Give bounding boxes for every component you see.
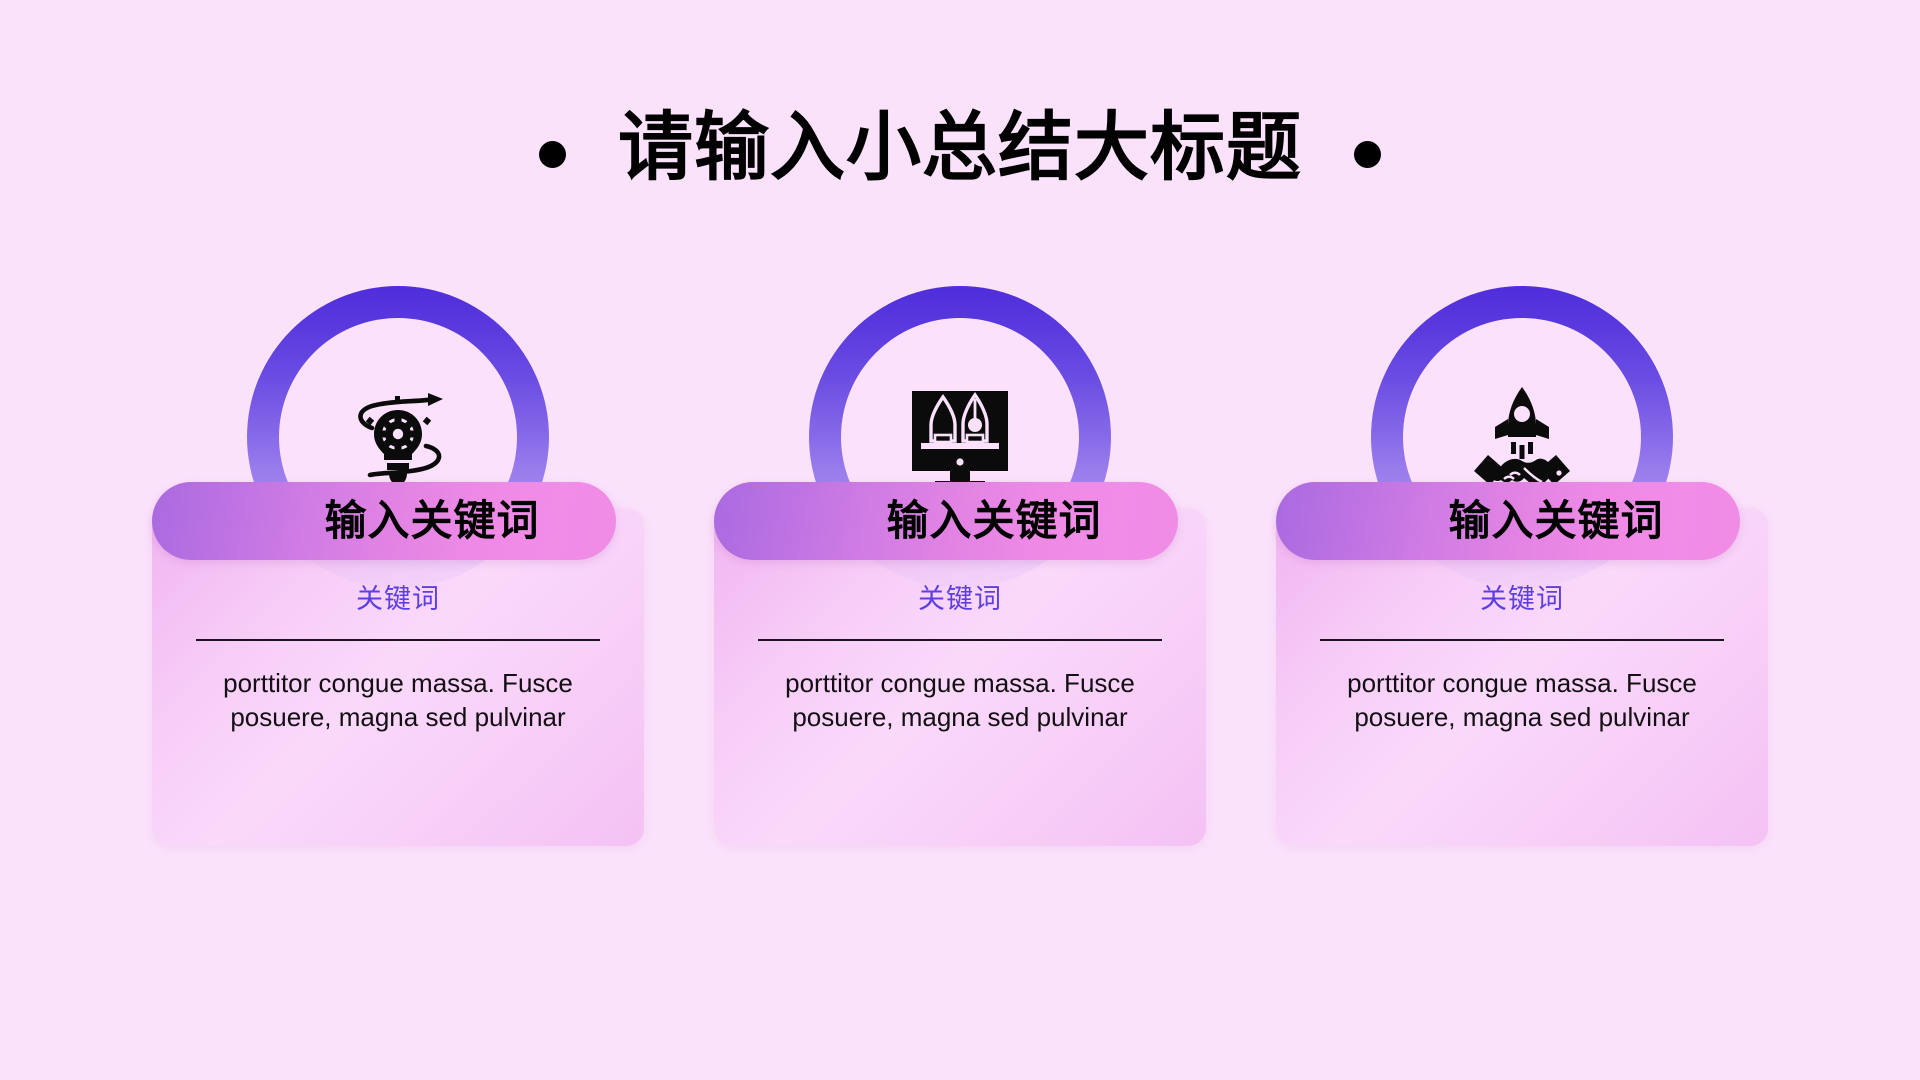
bullet-dot-right-icon xyxy=(1354,141,1381,168)
card-header-label: 输入关键词 xyxy=(228,500,539,542)
lightbulb-gear-orbit-icon xyxy=(340,382,456,492)
card-item[interactable]: 输入关键词 关键词 porttitor congue massa. Fusce … xyxy=(1276,286,1768,846)
card-description: porttitor congue massa. Fusce posuere, m… xyxy=(198,667,598,735)
card-divider xyxy=(1320,639,1724,641)
card-panel: 输入关键词 关键词 porttitor congue massa. Fusce … xyxy=(1276,482,1768,846)
card-item[interactable]: 输入关键词 关键词 porttitor congue massa. Fusce … xyxy=(152,286,644,846)
card-header-label: 输入关键词 xyxy=(1352,500,1663,542)
card-keyword: 关键词 xyxy=(356,586,440,613)
card-content: 关键词 porttitor congue massa. Fusce posuer… xyxy=(1276,560,1768,846)
card-content: 关键词 porttitor congue massa. Fusce posuer… xyxy=(714,560,1206,846)
page-title: 请输入小总结大标题 xyxy=(618,110,1302,185)
card-header: 输入关键词 xyxy=(152,482,616,560)
card-description: porttitor congue massa. Fusce posuere, m… xyxy=(1322,667,1722,735)
card-keyword: 关键词 xyxy=(1480,586,1564,613)
slide-root: 请输入小总结大标题 xyxy=(0,0,1920,1080)
rocket-handshake-icon xyxy=(1464,383,1580,491)
card-keyword: 关键词 xyxy=(918,586,1002,613)
card-header: 输入关键词 xyxy=(1276,482,1740,560)
card-divider xyxy=(758,639,1162,641)
card-header-label: 输入关键词 xyxy=(790,500,1101,542)
bullet-dot-left-icon xyxy=(539,141,566,168)
card-panel: 输入关键词 关键词 porttitor congue massa. Fusce … xyxy=(152,482,644,846)
monitor-pen-tool-icon xyxy=(905,383,1015,491)
slide-title-row: 请输入小总结大标题 xyxy=(0,92,1920,202)
card-content: 关键词 porttitor congue massa. Fusce posuer… xyxy=(152,560,644,846)
card-description: porttitor congue massa. Fusce posuere, m… xyxy=(760,667,1160,735)
card-item[interactable]: 输入关键词 关键词 porttitor congue massa. Fusce … xyxy=(714,286,1206,846)
card-divider xyxy=(196,639,600,641)
card-header: 输入关键词 xyxy=(714,482,1178,560)
card-list: 输入关键词 关键词 porttitor congue massa. Fusce … xyxy=(0,286,1920,846)
card-panel: 输入关键词 关键词 porttitor congue massa. Fusce … xyxy=(714,482,1206,846)
